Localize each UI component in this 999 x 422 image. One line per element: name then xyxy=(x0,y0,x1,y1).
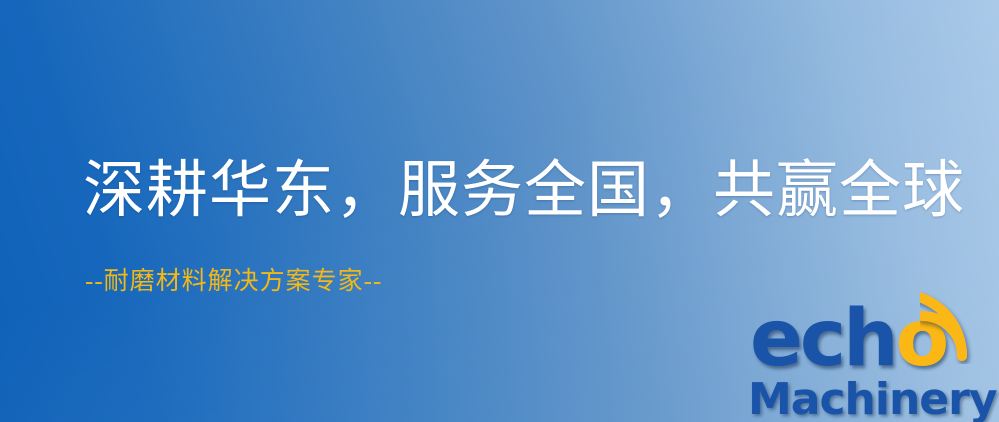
logo-wordmark: echo xyxy=(750,300,946,378)
logo-tagline-text: Machinery xyxy=(748,374,997,422)
logo-tagline: Machinery® xyxy=(748,371,999,422)
echo-machinery-logo[interactable]: echo Machinery® xyxy=(742,292,999,422)
echo-waves-icon xyxy=(920,292,999,364)
banner-headline: 深耕华东，服务全国，共赢全球 xyxy=(83,155,965,227)
hero-banner: 深耕华东，服务全国，共赢全球 --耐磨材料解决方案专家-- echo Machi… xyxy=(0,0,999,422)
banner-subtitle: --耐磨材料解决方案专家-- xyxy=(85,266,382,298)
